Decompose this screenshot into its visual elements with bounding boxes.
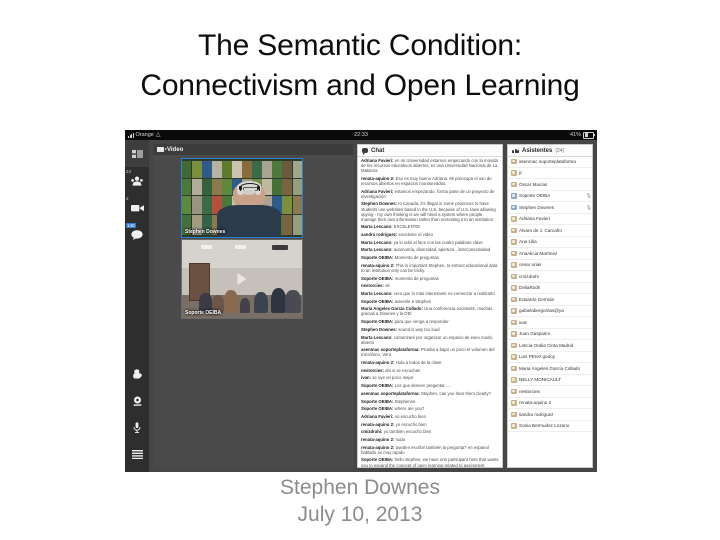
chat-message: Stephen Downes: sound is way too loud — [361, 327, 499, 332]
chat-message: Soporte OEIBA: Stephenne — [361, 399, 499, 404]
people-icon — [131, 176, 143, 186]
chat-message: Soporte OEIBA: avisenle a Stephen — [361, 299, 499, 304]
attendee-name: Luis PErez godoy — [519, 354, 555, 359]
attendee-row[interactable]: ivan — [508, 317, 592, 329]
chat-message-text: momento de preguntas — [395, 276, 439, 281]
avatar — [511, 308, 517, 314]
attendee-name: Eduardo Germán — [519, 297, 554, 302]
speaker-figure — [216, 182, 283, 237]
attendee-name: gabielabergomas@ya — [519, 308, 564, 313]
attendee-row[interactable]: DeliaRodri — [508, 283, 592, 295]
chat-message-text: Momento de preguntas — [395, 255, 439, 260]
attendee-name: Soporte OEIBA — [519, 193, 550, 198]
avatar — [511, 377, 517, 383]
rail-bottom-group — [125, 360, 149, 468]
video-tile-label: Stephen Downes — [185, 229, 225, 235]
rail-button-people[interactable]: 24 — [125, 167, 149, 194]
chat-panel-title: Chat — [371, 148, 384, 154]
attendee-name: Leticia Oralia Cinta Madrid — [519, 343, 573, 348]
chat-message-author: renata-aquino 2: — [361, 422, 396, 427]
attendee-name: Stephen Downes — [519, 205, 554, 210]
avatar — [511, 389, 517, 395]
attendee-name: Óscar Macías — [519, 182, 547, 187]
chat-panel: Chat Adriana Favieri: en mi Universidad … — [357, 144, 503, 468]
attendee-name: Adriana Favieri — [519, 216, 550, 221]
chat-message: Adriana Favieri: no escucho bien — [361, 414, 499, 419]
chat-message-text: yo también escucho bien — [384, 429, 432, 434]
chat-message: nestorcies: ahi si se escucha!! — [361, 368, 499, 373]
student-4 — [240, 298, 251, 314]
panels-area: Video — [149, 140, 597, 472]
chat-message-text: creo que lo más interesante es comenzar … — [394, 291, 495, 296]
chat-message-author: nestorcies: — [361, 283, 385, 288]
attendee-row[interactable]: jc — [508, 168, 592, 180]
avatar — [511, 274, 517, 280]
avatar — [511, 285, 517, 291]
chat-message: María Angeles García Collado: Una confer… — [361, 306, 499, 316]
chat-message-author: Adriana Favieri: — [361, 414, 395, 419]
video-panel-header: Video — [153, 144, 353, 155]
projector — [272, 245, 288, 250]
chat-message: Soporte OEIBA: where are you? — [361, 406, 499, 411]
chat-message-text: ok — [385, 283, 390, 288]
chat-message: asenmac soporteplataforma: Prueba a baja… — [361, 347, 499, 357]
attendee-row[interactable]: cesar urias — [508, 260, 592, 272]
chat-message-author: asenmac soporteplataforma: — [361, 391, 421, 396]
people-count-badge: 24 — [126, 169, 131, 174]
attendee-row[interactable]: Soporte OEIBA🎙 — [508, 191, 592, 203]
chat-message-author: Soporte OEIBA: — [361, 406, 395, 411]
avatar — [511, 239, 517, 245]
attendee-name: ivan — [519, 320, 527, 325]
avatar — [511, 251, 517, 257]
chat-message: Soporte OEIBA: Los que deseen preguntar … — [361, 383, 499, 388]
video-tile-soporte-oeiba[interactable]: Soporte OEIBA — [181, 239, 303, 319]
chat-message-author: nestorcies: — [361, 368, 385, 373]
attendee-name: Sonia Bermudez Lozano — [519, 423, 569, 428]
attendees-panel: Asistentes (24) asenmac soporteplataform… — [507, 144, 593, 468]
webcam-icon — [132, 396, 143, 406]
chat-message-author: Marta Lescano: — [361, 224, 394, 229]
rail-button-chat[interactable]: 140 — [125, 221, 149, 248]
student-6 — [271, 288, 287, 314]
chat-message-text: yo escucho bien — [396, 422, 427, 427]
ios-status-bar: Orange △ 22:33 41% — [125, 130, 597, 140]
attendee-row[interactable]: Juan Gasparini — [508, 329, 592, 341]
page-title: The Semantic Condition: Connectivism and… — [0, 26, 720, 106]
attendees-list[interactable]: asenmac soporteplataformajcÓscar MacíasS… — [508, 156, 592, 467]
rail-button-raise-hand[interactable] — [125, 360, 149, 387]
chat-message-text: no escucho bien — [395, 414, 426, 419]
chat-message: cmizdrahi: yo también escucho bien — [361, 429, 499, 434]
attendee-name: renata-aquino 2 — [519, 400, 551, 405]
left-toolbar: 24 2 140 — [125, 140, 149, 472]
chat-message-author: Soporte OEIBA: — [361, 276, 395, 281]
chat-message: Stephen Downes: In Canada, it's illegal … — [361, 201, 499, 221]
chat-message-author: Marta Lescano: — [361, 240, 394, 245]
chat-message: Soporte OEIBA: para que venga a responde… — [361, 319, 499, 324]
chat-message-author: Soporte OEIBA: — [361, 383, 395, 388]
attendee-row[interactable]: Leticia Oralia Cinta Madrid — [508, 340, 592, 352]
chat-count-badge: 140 — [126, 223, 136, 228]
presentation-date: July 10, 2013 — [0, 501, 720, 528]
chat-message: renata-aquino 2: yo escucho bien — [361, 422, 499, 427]
rail-button-microphone[interactable] — [125, 414, 149, 441]
layout-icon — [132, 150, 143, 158]
student-7 — [285, 290, 301, 313]
video-tile-label: Soporte OEIBA — [185, 310, 221, 316]
chat-message-text: ruido — [396, 437, 406, 442]
speaker-head — [233, 182, 265, 207]
attendee-name: cesar urias — [519, 262, 541, 267]
chat-message: Marta Lescano: autonomía, diversidad, ap… — [361, 247, 499, 252]
avatar — [511, 193, 517, 199]
chat-message-author: cmizdrahi: — [361, 429, 384, 434]
hamburger-menu-icon — [132, 450, 143, 459]
attendee-name: sandra rodriguez — [519, 412, 553, 417]
student-3 — [224, 290, 238, 313]
avatar — [511, 205, 517, 211]
attendees-count: (24) — [555, 148, 564, 154]
attendee-row[interactable]: Adriana Favieri — [508, 214, 592, 226]
avatar — [511, 331, 517, 337]
avatar — [511, 320, 517, 326]
student-5 — [254, 292, 268, 314]
status-bar-time: 22:33 — [125, 130, 597, 140]
chat-message: Adriana Favieri: en mi Universidad estam… — [361, 158, 499, 173]
chat-message: Adriana Favieri: estamos empezando, form… — [361, 189, 499, 199]
title-line-1: The Semantic Condition: — [0, 26, 720, 66]
attendee-row[interactable]: Alvaro de J. Carcaño — [508, 225, 592, 237]
avatar — [511, 228, 517, 234]
attendee-row[interactable]: Luis PErez godoy — [508, 352, 592, 364]
chat-message-text: ahi si se escucha!! — [385, 368, 420, 373]
attendee-name: AnaAlicia Martínez — [519, 251, 557, 256]
avatar — [511, 182, 517, 188]
chat-message: Soporte OEIBA: hello stephen, we have on… — [361, 457, 499, 467]
chat-message-text: where are you? — [395, 406, 425, 411]
video-camera-icon — [157, 147, 164, 152]
attendee-name: asenmac soporteplataforma — [519, 159, 576, 164]
chat-message-text: Stephenne — [395, 399, 416, 404]
rail-button-layout[interactable] — [125, 140, 149, 167]
chat-message-text: EXCELENTE! — [394, 224, 421, 229]
chat-message: Marta Lescano: comenzaré por organizar u… — [361, 335, 499, 345]
attendee-row[interactable]: AnaAlicia Martínez — [508, 248, 592, 260]
avatar — [511, 423, 517, 429]
chat-message: Soporte OEIBA: momento de preguntas — [361, 276, 499, 281]
attendee-row[interactable]: Ana Lilia — [508, 237, 592, 249]
attendee-name: Juan Gasparini — [519, 331, 550, 336]
ceiling-light-2 — [235, 245, 246, 248]
rail-button-menu[interactable] — [125, 441, 149, 468]
avatar — [511, 412, 517, 418]
chat-message: renata-aquino 2: This is important Steph… — [361, 263, 499, 273]
attendee-row[interactable]: asenmac soporteplataforma — [508, 156, 592, 168]
chat-message: asenmac soporteplataforma: Stephen, can … — [361, 391, 499, 396]
rail-button-camera[interactable]: 2 — [125, 194, 149, 221]
attendee-row[interactable]: Sonia Bermudez Lozano — [508, 421, 592, 433]
chat-message-author: Soporte OEIBA: — [361, 255, 395, 260]
chat-message-author: ivan: — [361, 375, 372, 380]
people-icon — [512, 148, 519, 153]
attendee-name: Ana Lilia — [519, 239, 537, 244]
attendee-name: Maria Angeles García Collado — [519, 366, 580, 371]
chat-message-author: Soporte OEIBA: — [361, 319, 395, 324]
chat-message-author: Marta Lescano: — [361, 247, 394, 252]
attendee-name: Alvaro de J. Carcaño — [519, 228, 562, 233]
slide-footer: Stephen Downes July 10, 2013 — [0, 474, 720, 528]
attendee-row[interactable]: NELLY MONICAULT — [508, 375, 592, 387]
chat-message: ivan: se oye un poco mejor — [361, 375, 499, 380]
microphone-icon[interactable]: 🎙 — [586, 205, 589, 210]
avatar — [511, 216, 517, 222]
chat-message-text: Los que deseen preguntar .... — [395, 383, 451, 388]
camera-count-badge: 2 — [126, 196, 129, 201]
avatar — [511, 170, 517, 176]
chat-message-list[interactable]: Adriana Favieri: en mi Universidad estam… — [358, 156, 502, 467]
rail-button-webcam[interactable] — [125, 387, 149, 414]
chat-message-author: Stephen Downes: — [361, 327, 398, 332]
avatar — [511, 366, 517, 372]
chat-message-text: avisenle a Stephen — [395, 299, 432, 304]
video-panel: Video — [153, 144, 353, 468]
attendees-panel-title: Asistentes — [522, 148, 552, 154]
video-panel-title: Video — [167, 147, 183, 153]
attendee-row[interactable]: gabielabergomas@ya — [508, 306, 592, 318]
chat-message-author: Soporte OEIBA: — [361, 399, 395, 404]
attendee-name: nestorcies — [519, 389, 540, 394]
chat-message-text: para que venga a responder — [395, 319, 449, 324]
chat-message-text: Stephen, can you hear them clearly? — [421, 391, 491, 396]
attendee-row[interactable]: Stephen Downes🎙 — [508, 202, 592, 214]
chat-message: renata-aquino 2: Eso es muy bueno Adrian… — [361, 176, 499, 186]
video-camera-icon — [131, 204, 144, 212]
attendee-name: cmizdrahi — [519, 274, 539, 279]
speaker-torso — [217, 205, 282, 237]
title-line-2: Connectivism and Open Learning — [0, 66, 720, 106]
chat-message-text: excelente el video — [399, 232, 433, 237]
attendee-row[interactable]: Maria Angeles García Collado — [508, 363, 592, 375]
chat-message-author: sandra rodríguez: — [361, 232, 399, 237]
attendee-name: jc — [519, 170, 522, 175]
status-bar-right: 41% — [570, 130, 594, 140]
battery-percent-label: 41% — [570, 130, 581, 140]
avatar — [511, 159, 517, 165]
chat-message: Marta Lescano: ya lo subí al face con la… — [361, 240, 499, 245]
chat-message-author: Soporte OEIBA: — [361, 299, 395, 304]
speaker-earcup-left — [239, 186, 242, 190]
chat-message-text: Hola a todos de la clase — [396, 360, 442, 365]
attendee-name: NELLY MONICAULT — [519, 377, 561, 382]
avatar — [511, 297, 517, 303]
battery-icon — [583, 132, 594, 139]
chat-message: sandra rodríguez: excelente el video — [361, 232, 499, 237]
attendee-row[interactable]: nestorcies — [508, 386, 592, 398]
chat-message-text: se oye un poco mejor — [372, 375, 413, 380]
video-tile-stephen-downes[interactable]: Stephen Downes — [181, 158, 303, 238]
chat-message-author: Marta Lescano: — [361, 291, 394, 296]
chat-bubble-icon — [131, 230, 143, 240]
chat-message: renata-aquino 2: ruido — [361, 437, 499, 442]
attendee-row[interactable]: cmizdrahi — [508, 271, 592, 283]
avatar — [511, 354, 517, 360]
raise-hand-icon — [132, 369, 143, 379]
microphone-icon[interactable]: 🎙 — [586, 193, 589, 198]
chat-message: renata-aquino 2: pueden escribir también… — [361, 445, 499, 455]
chat-message: nestorcies: ok — [361, 283, 499, 288]
chat-message-author: renata-aquino 2: — [361, 360, 396, 365]
webinar-screenshot: Orange △ 22:33 41% 24 — [125, 130, 597, 472]
play-icon[interactable] — [238, 273, 247, 285]
chat-message-text: autonomía, diversidad, apertura , interc… — [394, 247, 491, 252]
attendee-name: DeliaRodri — [519, 285, 540, 290]
chat-bubble-icon — [362, 148, 368, 153]
author-name: Stephen Downes — [0, 474, 720, 501]
avatar — [511, 400, 517, 406]
chat-message-author: renata-aquino 2: — [361, 437, 396, 442]
attendee-row[interactable]: Óscar Macías — [508, 179, 592, 191]
avatar — [511, 343, 517, 349]
attendee-row[interactable]: sandra rodriguez — [508, 409, 592, 421]
chat-message: renata-aquino 2: Hola a todos de la clas… — [361, 360, 499, 365]
attendee-row[interactable]: Eduardo Germán — [508, 294, 592, 306]
ceiling-light-1 — [201, 245, 212, 248]
chat-message: Marta Lescano: EXCELENTE! — [361, 224, 499, 229]
attendee-row[interactable]: renata-aquino 2 — [508, 398, 592, 410]
chat-message-text: ya lo subí al face con las cuatro palabr… — [394, 240, 483, 245]
chat-message-text: sound is way too loud — [398, 327, 439, 332]
microphone-icon — [133, 422, 141, 433]
chat-message: Marta Lescano: creo que lo más interesan… — [361, 291, 499, 296]
avatar — [511, 262, 517, 268]
chat-message: Soporte OEIBA: Momento de preguntas — [361, 255, 499, 260]
